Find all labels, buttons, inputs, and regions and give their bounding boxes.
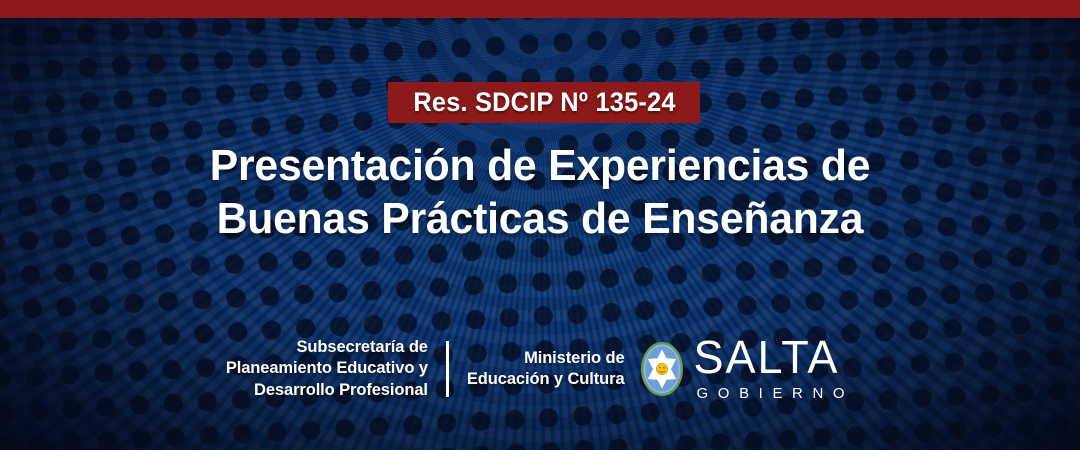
salta-government-logo: SALTA GOBIERNO	[641, 336, 855, 401]
page-title-line-2: Buenas Prácticas de Enseñanza	[16, 193, 1064, 246]
ministerio-line-1: Ministerio de	[467, 348, 625, 369]
ministerio-block: Ministerio de Educación y Cultura	[467, 348, 625, 391]
top-accent-bar	[0, 0, 1080, 18]
salta-wordmark-sub: GOBIERNO	[694, 385, 855, 402]
page-title: Presentación de Experiencias de Buenas P…	[0, 140, 1080, 246]
subsecretaria-line-2: Planeamiento Educativo y	[226, 358, 428, 379]
lockup-divider	[446, 341, 449, 397]
ministerio-line-2: Educación y Cultura	[467, 369, 625, 390]
subsecretaria-block: Subsecretaría de Planeamiento Educativo …	[226, 337, 428, 401]
subsecretaria-line-1: Subsecretaría de	[226, 337, 428, 358]
resolution-badge: Res. SDCIP Nº 135-24	[388, 82, 700, 123]
resolution-badge-label: Res. SDCIP Nº 135-24	[413, 87, 675, 118]
event-banner: Res. SDCIP Nº 135-24 Presentación de Exp…	[0, 0, 1080, 450]
banner-content: Res. SDCIP Nº 135-24 Presentación de Exp…	[0, 0, 1080, 450]
subsecretaria-line-3: Desarrollo Profesional	[226, 380, 428, 401]
salta-crest-icon	[641, 342, 683, 396]
salta-wordmark: SALTA GOBIERNO	[694, 336, 855, 401]
page-title-line-1: Presentación de Experiencias de	[16, 140, 1064, 193]
salta-wordmark-main: SALTA	[694, 335, 855, 380]
institution-lockup: Subsecretaría de Planeamiento Educativo …	[0, 326, 1080, 412]
